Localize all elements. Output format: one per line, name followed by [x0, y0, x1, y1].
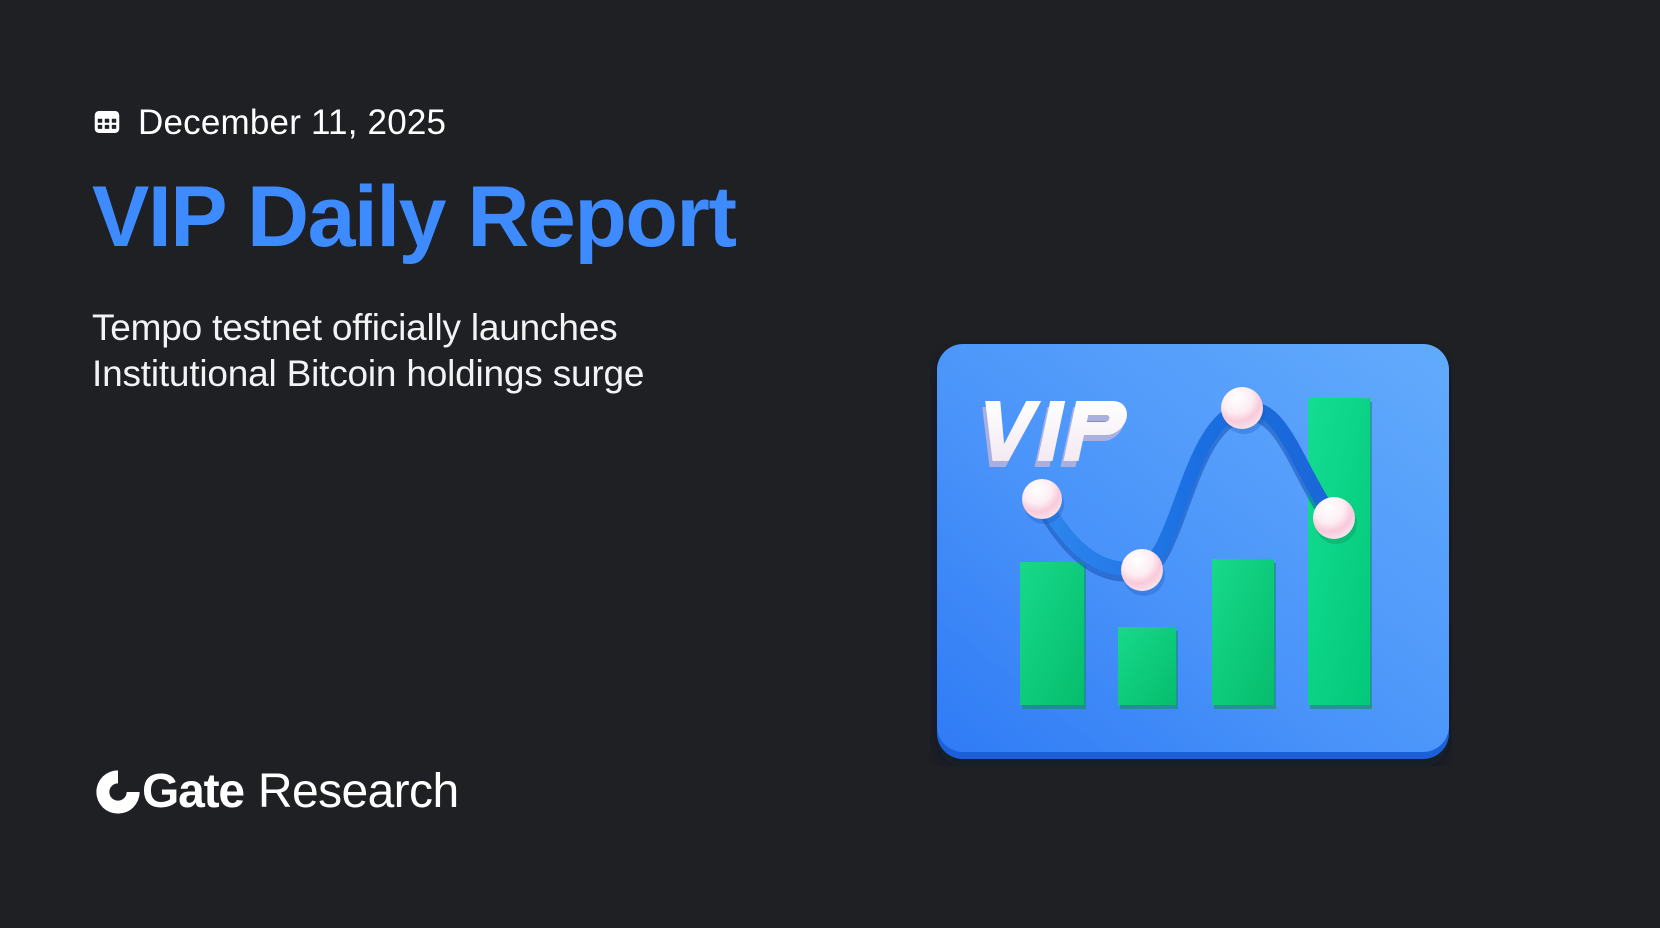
page-title: VIP Daily Report [92, 172, 736, 262]
illustration-container [930, 334, 1452, 766]
gate-logo-icon [92, 766, 144, 818]
subtitle-block: Tempo testnet officially launches Instit… [92, 305, 644, 398]
vip-daily-report-banner: December 11, 2025 VIP Daily Report Tempo… [0, 0, 1660, 928]
brand-suffix: Research [258, 768, 459, 816]
subtitle-line-2: Institutional Bitcoin holdings surge [92, 351, 644, 397]
text-column: December 11, 2025 VIP Daily Report Tempo… [92, 0, 952, 928]
date-row: December 11, 2025 [92, 95, 446, 149]
report-date: December 11, 2025 [138, 105, 446, 140]
calendar-icon [92, 107, 122, 137]
brand-logo: Gate Research [92, 766, 459, 818]
card-body [937, 344, 1449, 759]
vip-chart-card-illustration [930, 334, 1452, 766]
subtitle-line-1: Tempo testnet officially launches [92, 305, 644, 351]
brand-name: Gate [142, 768, 244, 816]
